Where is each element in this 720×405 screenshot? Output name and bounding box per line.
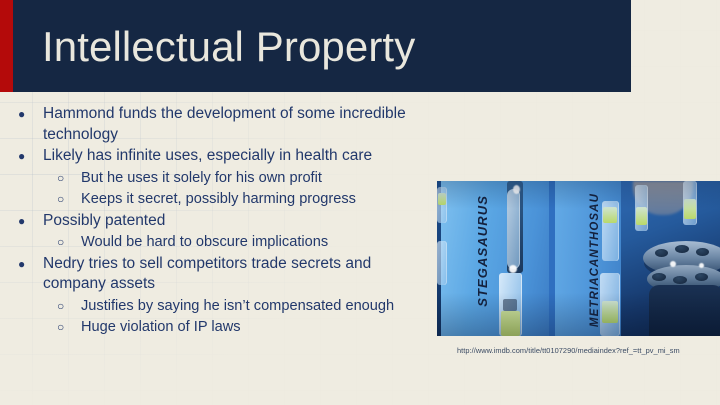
list-item-label: Huge violation of IP laws [81,317,431,338]
list-item: ○ Justifies by saying he isn’t compensat… [57,296,440,317]
list-item: ○ Huge violation of IP laws [57,317,440,338]
bullet-filled-icon: ● [18,104,43,125]
list-item: ○ But he uses it solely for his own prof… [57,168,440,189]
bullet-list: ● Hammond funds the development of some … [0,104,440,339]
photo-vignette [437,181,720,336]
bullet-hollow-icon: ○ [57,296,81,317]
photo-figure: STEGASAURUS METRIACANTHOSAU [437,181,720,336]
list-item-label: But he uses it solely for his own profit [81,168,431,189]
list-item: ● Possibly patented [18,211,440,232]
list-item-label: Likely has infinite uses, especially in … [43,146,435,167]
list-item: ○ Would be hard to obscure implications [57,232,440,253]
list-item-label: Would be hard to obscure implications [81,232,431,253]
title-band: Intellectual Property [0,0,631,92]
bullet-hollow-icon: ○ [57,168,81,189]
list-item-label: Possibly patented [43,211,435,232]
list-item-label: Nedry tries to sell competitors trade se… [43,254,435,295]
list-item: ○ Keeps it secret, possibly harming prog… [57,189,440,210]
bullet-filled-icon: ● [18,254,43,275]
list-item-label: Keeps it secret, possibly harming progre… [81,189,431,210]
photo-caption-url: http://www.imdb.com/title/tt0107290/medi… [457,346,680,356]
embryo-storage-photo: STEGASAURUS METRIACANTHOSAU [437,181,720,336]
red-accent-bar [0,0,13,92]
list-item: ● Nedry tries to sell competitors trade … [18,254,440,295]
bullet-hollow-icon: ○ [57,317,81,338]
list-item: ● Hammond funds the development of some … [18,104,440,145]
list-item-label: Hammond funds the development of some in… [43,104,435,145]
list-item-label: Justifies by saying he isn’t compensated… [81,296,431,317]
bullet-hollow-icon: ○ [57,189,81,210]
bullet-filled-icon: ● [18,211,43,232]
page-title: Intellectual Property [42,23,415,71]
bullet-hollow-icon: ○ [57,232,81,253]
bullet-filled-icon: ● [18,146,43,167]
list-item: ● Likely has infinite uses, especially i… [18,146,440,167]
